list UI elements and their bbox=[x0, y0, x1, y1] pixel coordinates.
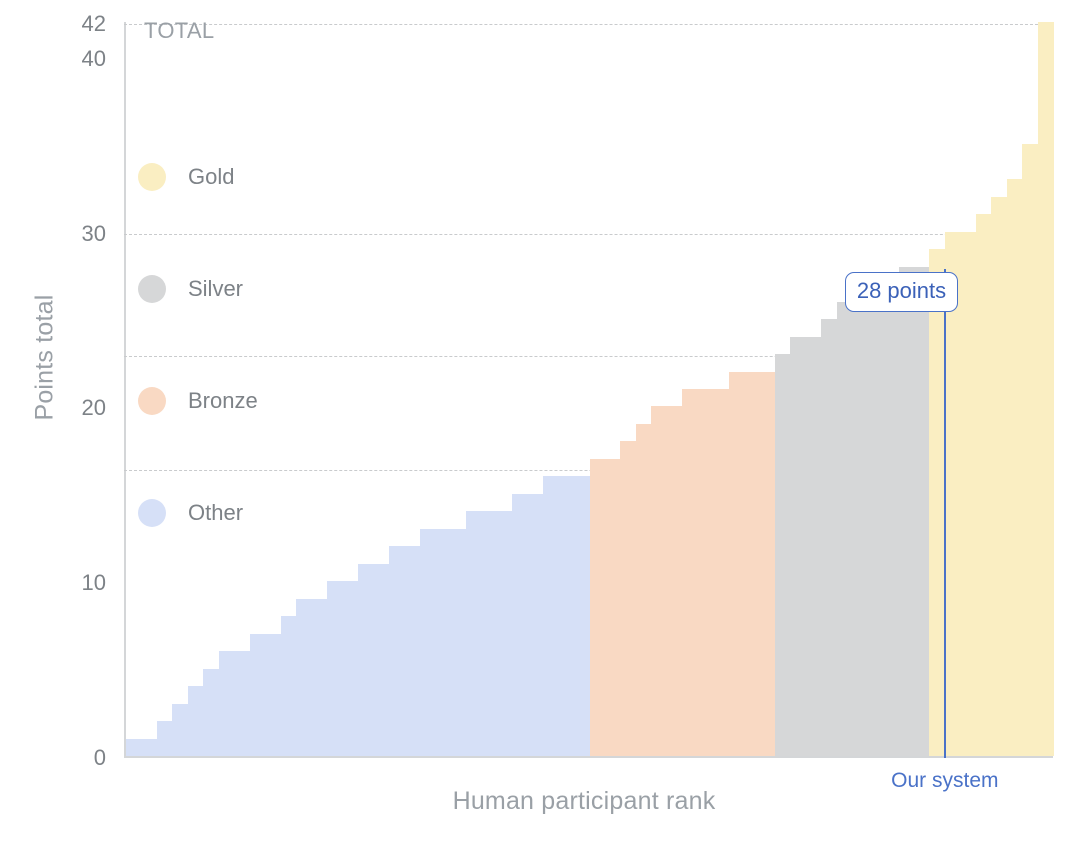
y-tick-label: 20 bbox=[6, 397, 106, 419]
plot-area bbox=[124, 22, 1053, 758]
bar bbox=[543, 476, 559, 756]
bar bbox=[759, 372, 775, 756]
y-tick-label: 0 bbox=[6, 747, 106, 769]
bar bbox=[1038, 22, 1054, 756]
y-tick-label: 30 bbox=[6, 223, 106, 245]
bar bbox=[899, 267, 915, 756]
bar bbox=[729, 372, 745, 756]
our-system-axis-label: Our system bbox=[830, 769, 1060, 793]
legend-label: Bronze bbox=[188, 388, 258, 414]
y-axis-ticks: 01020304042 bbox=[0, 0, 106, 843]
points-total-chart: Points total 01020304042 Human participa… bbox=[0, 0, 1080, 843]
bar bbox=[636, 424, 652, 756]
bar bbox=[821, 319, 837, 756]
legend-item-other[interactable]: Other bbox=[138, 496, 243, 530]
bar bbox=[203, 669, 219, 756]
bar bbox=[327, 581, 343, 756]
y-tick-label: 40 bbox=[6, 48, 106, 70]
bar bbox=[667, 406, 683, 756]
bar bbox=[141, 739, 157, 756]
bar bbox=[868, 284, 884, 756]
legend-swatch-icon bbox=[138, 387, 166, 415]
bar bbox=[620, 441, 636, 756]
bar bbox=[358, 564, 374, 756]
bar bbox=[976, 214, 992, 756]
bar bbox=[775, 354, 791, 756]
bar bbox=[574, 476, 590, 756]
bar bbox=[250, 634, 266, 756]
bar bbox=[311, 599, 327, 756]
bar bbox=[435, 529, 451, 756]
bar bbox=[744, 372, 760, 756]
bar bbox=[342, 581, 358, 756]
bar bbox=[157, 721, 173, 756]
bar bbox=[497, 511, 513, 756]
bar bbox=[265, 634, 281, 756]
bar bbox=[373, 564, 389, 756]
bar bbox=[1007, 179, 1023, 756]
y-tick-label: 10 bbox=[6, 572, 106, 594]
legend-swatch-icon bbox=[138, 275, 166, 303]
legend-item-silver[interactable]: Silver bbox=[138, 272, 243, 306]
bar bbox=[404, 546, 420, 756]
bar bbox=[914, 267, 930, 756]
bar bbox=[883, 284, 899, 756]
bar bbox=[837, 302, 853, 756]
legend-item-bronze[interactable]: Bronze bbox=[138, 384, 258, 418]
legend-label: Silver bbox=[188, 276, 243, 302]
legend-swatch-icon bbox=[138, 163, 166, 191]
bar bbox=[651, 406, 667, 756]
bar-series bbox=[126, 22, 1053, 756]
bar bbox=[420, 529, 436, 756]
bar bbox=[713, 389, 729, 756]
bar bbox=[512, 494, 528, 756]
bar bbox=[1022, 144, 1038, 756]
chart-title: TOTAL bbox=[144, 18, 214, 44]
legend-label: Gold bbox=[188, 164, 234, 190]
bar bbox=[682, 389, 698, 756]
bar bbox=[528, 494, 544, 756]
bar bbox=[219, 651, 235, 756]
bar bbox=[605, 459, 621, 756]
bar bbox=[790, 337, 806, 756]
legend-swatch-icon bbox=[138, 499, 166, 527]
legend-item-gold[interactable]: Gold bbox=[138, 160, 234, 194]
bar bbox=[960, 232, 976, 756]
bar bbox=[806, 337, 822, 756]
bar bbox=[466, 511, 482, 756]
bar bbox=[126, 739, 142, 756]
bar bbox=[281, 616, 297, 756]
bar bbox=[590, 459, 606, 756]
bar bbox=[188, 686, 204, 756]
y-tick-label: 42 bbox=[6, 13, 106, 35]
bar bbox=[852, 302, 868, 756]
bar bbox=[559, 476, 575, 756]
bar bbox=[991, 197, 1007, 756]
bar bbox=[389, 546, 405, 756]
x-axis-line bbox=[124, 756, 1053, 758]
bar bbox=[481, 511, 497, 756]
bar bbox=[296, 599, 312, 756]
bar bbox=[172, 704, 188, 756]
our-system-callout: 28 points bbox=[845, 272, 958, 312]
bar bbox=[450, 529, 466, 756]
bar bbox=[234, 651, 250, 756]
our-system-marker-line bbox=[944, 269, 946, 758]
legend-label: Other bbox=[188, 500, 243, 526]
bar bbox=[698, 389, 714, 756]
